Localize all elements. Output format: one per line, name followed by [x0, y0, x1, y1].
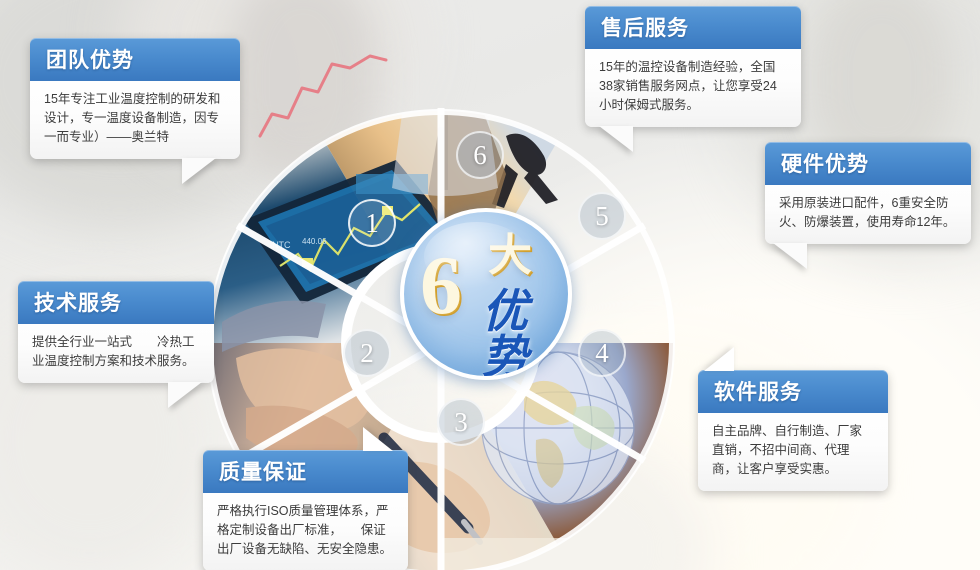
callout-team-title: 团队优势	[30, 38, 240, 81]
callout-tech-service[interactable]: 技术服务 提供全行业一站式 冷热工业温度控制方案和技术服务。	[18, 281, 214, 383]
svg-text:iNTC: iNTC	[270, 240, 291, 250]
callout-quality-title: 质量保证	[203, 450, 408, 493]
background-person-silhouette	[228, 0, 378, 180]
callout-team-body: 15年专注工业温度控制的研发和设计，专一温度设备制造，因专一而专业）——奥兰特	[30, 81, 240, 159]
callout-after-sales-body: 15年的温控设备制造经验，全国38家销售服务网点，让您享受24小时保姆式服务。	[585, 49, 801, 127]
callout-software-tail	[704, 347, 734, 371]
callout-team-advantage[interactable]: 团队优势 15年专注工业温度控制的研发和设计，专一温度设备制造，因专一而专业）—…	[30, 38, 240, 159]
callout-after-sales-title: 售后服务	[585, 6, 801, 49]
callout-tech-title: 技术服务	[18, 281, 214, 324]
callout-hardware-tail	[773, 243, 807, 269]
callout-after-sales[interactable]: 售后服务 15年的温控设备制造经验，全国38家销售服务网点，让您享受24小时保姆…	[585, 6, 801, 127]
badge-2[interactable]: 2	[343, 329, 391, 377]
callout-tech-tail	[168, 382, 202, 408]
center-number: 6	[420, 244, 462, 328]
callout-hardware-body: 采用原装进口配件，6重安全防火、防爆装置，使用寿命12年。	[765, 185, 971, 244]
badge-3[interactable]: 3	[437, 398, 485, 446]
callout-software-service[interactable]: 软件服务 自主品牌、自行制造、厂家直销，不招中间商、代理商，让客户享受实惠。	[698, 370, 888, 491]
callout-team-tail	[182, 158, 216, 184]
callout-after-sales-tail	[599, 126, 633, 152]
callout-software-title: 软件服务	[698, 370, 888, 413]
callout-hardware-advantage[interactable]: 硬件优势 采用原装进口配件，6重安全防火、防爆装置，使用寿命12年。	[765, 142, 971, 244]
infographic-canvas: iNTC 440.06	[0, 0, 980, 570]
callout-quality-tail	[363, 427, 393, 451]
center-sub-label: 优势	[482, 288, 568, 380]
callout-tech-body: 提供全行业一站式 冷热工业温度控制方案和技术服务。	[18, 324, 214, 383]
callout-software-body: 自主品牌、自行制造、厂家直销，不招中间商、代理商，让客户享受实惠。	[698, 413, 888, 491]
badge-4[interactable]: 4	[578, 329, 626, 377]
svg-text:440.06: 440.06	[302, 237, 327, 246]
badge-5[interactable]: 5	[578, 192, 626, 240]
center-big-label: 大	[488, 234, 532, 278]
center-badge: 6 大 优势	[400, 208, 572, 380]
callout-quality-assurance[interactable]: 质量保证 严格执行ISO质量管理体系，严格定制设备出厂标准， 保证出厂设备无缺陷…	[203, 450, 408, 570]
zigzag-line-decoration	[258, 52, 388, 138]
badge-6[interactable]: 6	[456, 131, 504, 179]
badge-1[interactable]: 1	[348, 199, 396, 247]
callout-hardware-title: 硬件优势	[765, 142, 971, 185]
callout-quality-body: 严格执行ISO质量管理体系，严格定制设备出厂标准， 保证出厂设备无缺陷、无安全隐…	[203, 493, 408, 570]
